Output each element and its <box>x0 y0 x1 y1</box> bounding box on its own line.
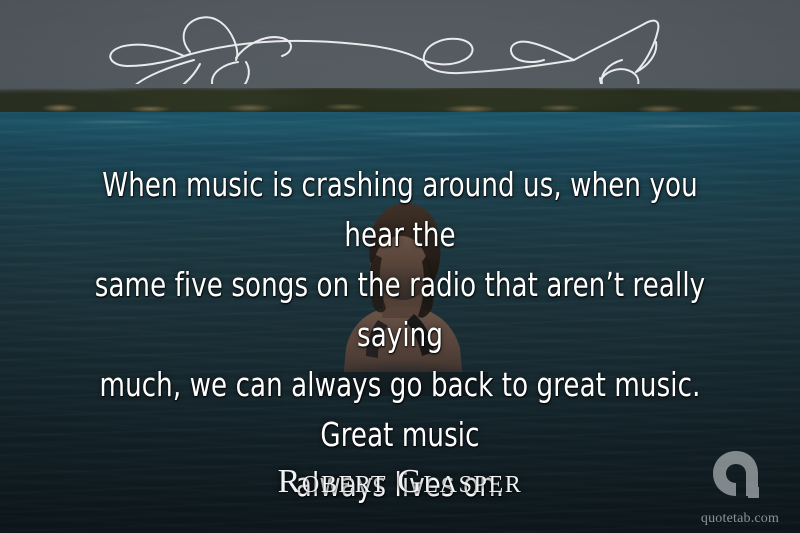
author-name: Robert Glasper <box>0 463 800 501</box>
watermark-site-label: quotetab.com <box>688 511 792 527</box>
quotetab-q-logo-icon <box>688 449 792 510</box>
watermark[interactable]: quotetab.com <box>688 449 792 527</box>
flourish-ornament-icon <box>88 8 712 84</box>
quote-line: same five songs on the radio that aren’t… <box>95 265 705 354</box>
quote-line: much, we can always go back to great mus… <box>100 365 701 454</box>
quote-text: When music is crashing around us, when y… <box>94 160 706 510</box>
quote-image-card: When music is crashing around us, when y… <box>0 0 800 533</box>
quote-line: When music is crashing around us, when y… <box>102 165 697 254</box>
